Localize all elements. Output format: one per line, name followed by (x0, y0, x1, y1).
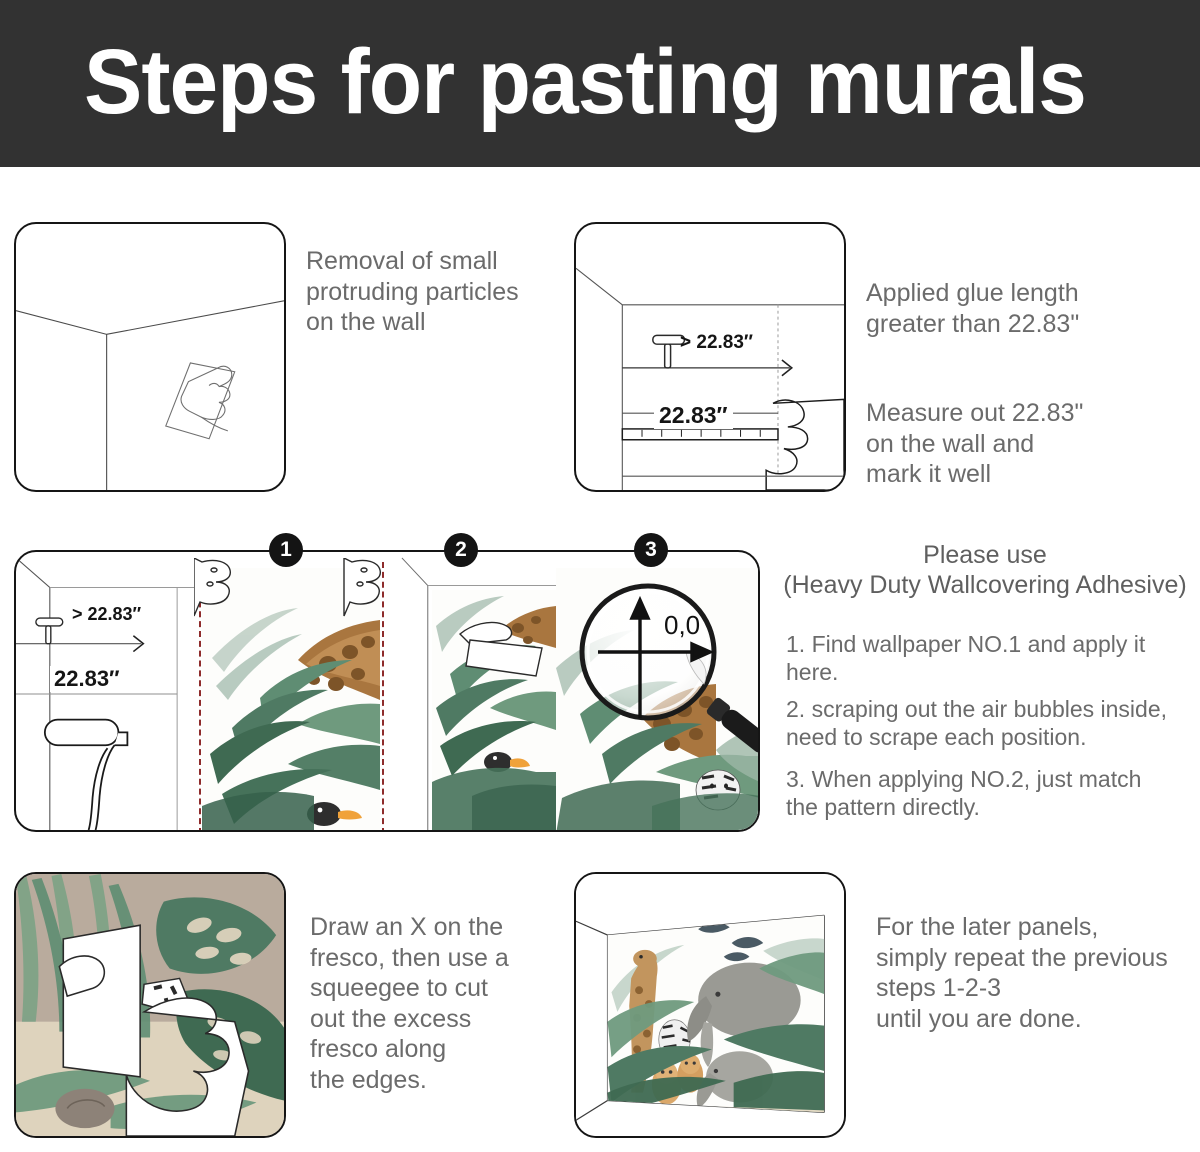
instruction-item-3: 3. When applying NO.2, just match the pa… (786, 765, 1198, 821)
magnifier-icon (574, 578, 760, 768)
panel-finished-wall (574, 872, 846, 1138)
page-title: Steps for pasting murals (84, 27, 1086, 137)
step-badge-2: 2 (444, 533, 478, 567)
panel-finished-wall-caption: For the later panels, simply repeat the … (876, 912, 1200, 1034)
dimension-upper-label: > 22.83″ (680, 332, 753, 354)
panel-trim-excess-caption: Draw an X on the fresco, then use a sque… (310, 912, 560, 1095)
strip-dimension-upper: > 22.83″ (72, 604, 141, 625)
hand-with-scraper-icon (166, 363, 235, 439)
step-badge-1: 1 (269, 533, 303, 567)
squeegee-icon (63, 925, 140, 1077)
dimension-lower-label: 22.83″ (654, 402, 733, 429)
glue-brush-icon (36, 618, 63, 644)
step-badge-3: 3 (634, 533, 668, 567)
room-measure-icon (576, 224, 844, 490)
hand-icon (194, 558, 394, 618)
panel-wall-preparation (14, 222, 286, 492)
origin-label: 0,0 (664, 610, 700, 641)
finished-mural-room-icon (576, 874, 844, 1136)
panel-glue-and-measure: > 22.83″ 22.83″ (574, 222, 846, 492)
instruction-item-1: 1. Find wallpaper NO.1 and apply it here… (786, 630, 1198, 686)
paint-roller-icon (45, 720, 128, 830)
adhesive-heading: Please use (Heavy Duty Wallcovering Adhe… (776, 540, 1194, 600)
page-header: Steps for pasting murals (0, 0, 1200, 167)
panel-glue-caption-bottom: Measure out 22.83" on the wall and mark … (866, 398, 1186, 490)
panel-trim-excess (14, 872, 286, 1138)
room-corner-icon (16, 224, 284, 490)
hand-with-squeegee-icon (456, 610, 576, 680)
panel-wall-preparation-caption: Removal of small protruding particles on… (306, 246, 566, 338)
tape-measure-icon (622, 429, 778, 440)
panel-apply-panels-strip: > 22.83″ 22.83″ (14, 550, 760, 832)
panel-glue-caption-top: Applied glue length greater than 22.83" (866, 278, 1186, 339)
jungle-photo-background (16, 874, 284, 1136)
instruction-item-2: 2. scraping out the air bubbles inside, … (786, 695, 1198, 751)
strip-dimension-lower: 22.83″ (50, 666, 124, 692)
